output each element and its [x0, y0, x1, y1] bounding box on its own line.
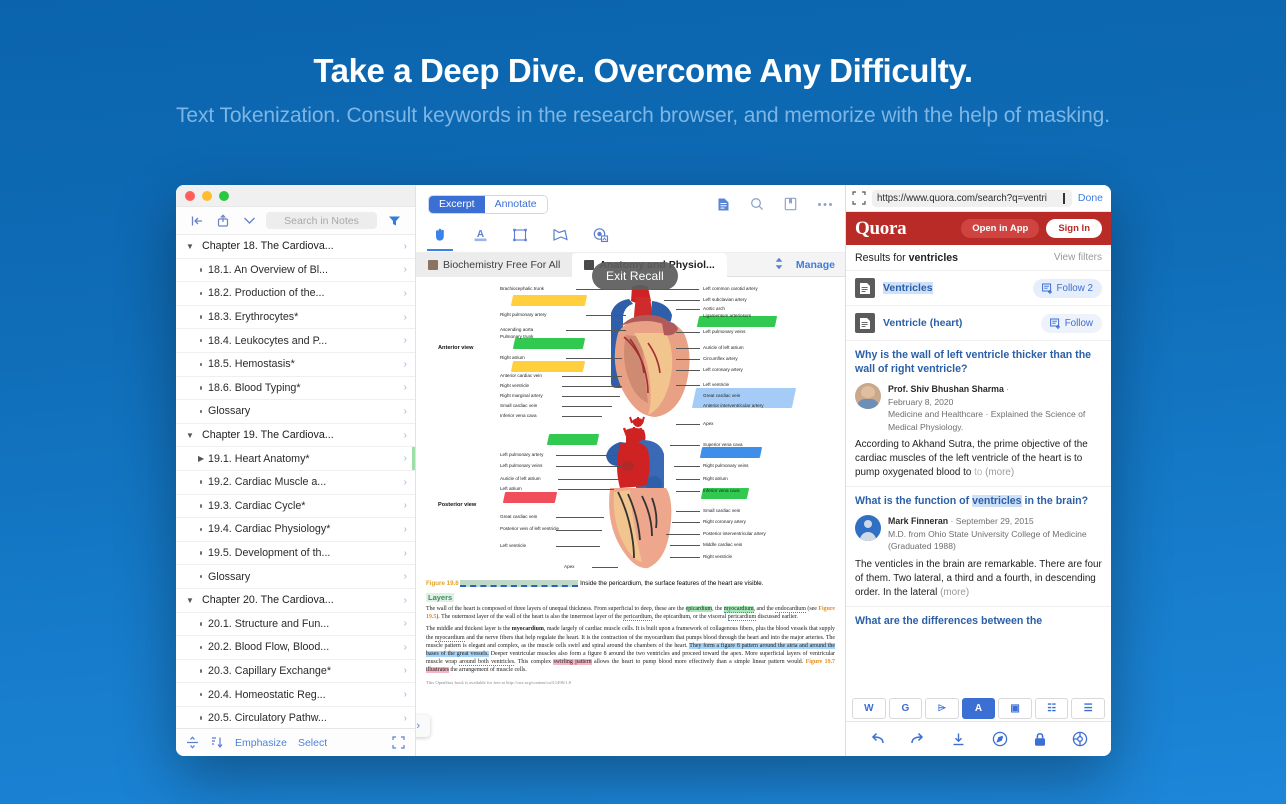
figure-number: Figure 19.6 [426, 580, 459, 587]
leader-line [676, 359, 700, 360]
tree-item-label: 20.1. Structure and Fun... [202, 618, 404, 630]
search-engine-bar[interactable]: WG⌲A▣☷☰ [852, 698, 1105, 719]
label-inferior-vena-cava: Inferior vena cava [703, 488, 740, 493]
bullet-icon [186, 363, 202, 367]
tree-item-10[interactable]: 19.2. Cardiac Muscle a...› [176, 471, 415, 495]
leader-line [672, 522, 700, 523]
open-in-app-button[interactable]: Open in App [961, 219, 1039, 238]
topic-icon [855, 313, 875, 333]
fullscreen-icon[interactable] [392, 736, 405, 749]
figure-posterior-view: Posterior view [426, 426, 835, 578]
answer-card-1[interactable]: Why is the wall of left ventricle thicke… [846, 341, 1111, 487]
leader-line [670, 445, 700, 446]
image-capture-tool-icon[interactable] [590, 225, 610, 251]
answer-body: The venticles in the brain are remarkabl… [855, 558, 1102, 600]
chevron-right-icon[interactable]: › [404, 618, 407, 629]
sidebar-footer: Emphasize Select [176, 728, 415, 756]
chevron-right-icon[interactable]: › [404, 406, 407, 417]
paragraph-layers-2[interactable]: The middle and thickest layer is the myo… [426, 625, 835, 674]
notes-sidebar-panel: Search in Notes ▼Chapter 18. The Cardiov… [176, 185, 416, 756]
tree-item-label: 18.6. Blood Typing* [202, 382, 404, 394]
label-right-atrium: Right atrium [703, 476, 728, 481]
chapter-tree[interactable]: ▼Chapter 18. The Cardiova...›18.1. An Ov… [176, 235, 415, 728]
leader-line [556, 455, 622, 456]
follow-icon [1042, 283, 1053, 294]
leader-line [676, 511, 700, 512]
masked-text-block[interactable] [460, 580, 578, 587]
chevron-right-icon[interactable]: › [404, 477, 407, 488]
leader-line [562, 376, 622, 377]
leader-line [556, 530, 602, 531]
answer-card-2[interactable]: What is the function of ventricles in th… [846, 487, 1111, 607]
hero-title: Take a Deep Dive. Overcome Any Difficult… [0, 52, 1286, 90]
label-pulmonary-trunk: Pulmonary trunk [500, 334, 533, 339]
tree-item-14[interactable]: Glossary› [176, 565, 415, 589]
label-right-pulmonary-artery: Right pulmonary artery [500, 312, 546, 317]
label-anterior-cardiac-vein: Anterior cardiac vein [500, 373, 542, 378]
follow-button[interactable]: Follow [1041, 314, 1102, 333]
leader-line [676, 309, 700, 310]
more-link[interactable]: (more) [985, 467, 1014, 478]
document-top-toolbar: Excerpt Annotate [416, 185, 845, 223]
chevron-down-icon[interactable] [236, 210, 262, 232]
leader-line [676, 332, 700, 333]
research-browser-panel: https://www.quora.com/search?q=ventri Do… [846, 185, 1111, 756]
label-great-cardiac-vein: Great cardiac vein [703, 393, 740, 398]
section-heading-layers: Layers [426, 593, 454, 602]
chevron-right-icon[interactable]: › [404, 642, 407, 653]
disclosure-triangle-down-icon[interactable]: ▼ [186, 596, 202, 605]
leader-line [556, 517, 604, 518]
chevron-right-icon[interactable]: › [404, 571, 407, 582]
leader-line [676, 370, 700, 371]
bullet-icon [186, 480, 202, 484]
chevron-right-icon[interactable]: › [404, 288, 407, 299]
leader-line [676, 385, 700, 386]
expand-browser-icon[interactable] [852, 191, 866, 205]
chevron-right-icon[interactable]: › [404, 665, 407, 676]
split-view-icon[interactable] [186, 736, 199, 749]
pointer-hand-tool-icon[interactable] [430, 225, 450, 251]
tree-item-label: 19.2. Cardiac Muscle a... [202, 476, 404, 488]
chevron-right-icon[interactable]: › [404, 359, 407, 370]
search-input[interactable]: Search in Notes [266, 212, 377, 229]
topic-name[interactable]: Ventricles [883, 282, 933, 294]
tree-item-1[interactable]: 18.1. An Overview of Bl...› [176, 259, 415, 283]
bullet-icon [186, 410, 202, 414]
answer-card-3[interactable]: What are the differences between the [846, 607, 1111, 629]
leader-line [556, 466, 622, 467]
author-credential: M.D. from Ohio State University College … [888, 529, 1087, 551]
label-left-ventricle: Left ventricle [703, 382, 729, 387]
chevron-right-icon[interactable]: › [404, 689, 407, 700]
answer-body: According to Akhand Sutra, the prime obj… [855, 438, 1102, 480]
pdf-search-icon[interactable]: ☰ [1071, 698, 1105, 719]
lasso-polygon-tool-icon[interactable] [550, 225, 570, 251]
sidebar-toolbar: Search in Notes [176, 207, 415, 235]
chevron-right-icon[interactable]: › [404, 335, 407, 346]
tree-item-11[interactable]: 19.3. Cardiac Cycle*› [176, 495, 415, 519]
document-icon[interactable] [717, 197, 730, 212]
leader-line [666, 534, 700, 535]
label-middle-cardiac-vein: Middle cardiac vein [703, 542, 742, 547]
label-aortic-arch: Aortic arch [703, 306, 725, 311]
tree-item-2[interactable]: 18.2. Production of the...› [176, 282, 415, 306]
label-left-atrium: Left atrium [500, 486, 522, 491]
download-icon[interactable] [951, 732, 966, 747]
document-actions [717, 197, 833, 212]
tree-item-4[interactable]: 18.4. Leukocytes and P...› [176, 329, 415, 353]
follow-label: Follow [1065, 318, 1093, 329]
tree-item-label: Chapter 19. The Cardiova... [202, 429, 404, 441]
back-icon[interactable] [869, 732, 885, 746]
more-options-icon[interactable] [817, 202, 833, 207]
label-left-ventricle: Left ventricle [500, 543, 526, 548]
heart-anterior-illustration [574, 283, 704, 429]
topic-icon [855, 278, 875, 298]
label-posterior-interventricular-artery: Posterior interventricular artery [703, 531, 766, 536]
label-apex: Apex [564, 564, 574, 569]
quora-header-actions: Open in App Sign In [961, 219, 1102, 238]
tree-item-label: Chapter 20. The Cardiova... [202, 594, 404, 606]
bullet-icon [186, 575, 202, 579]
answer-author-block: Prof. Shiv Bhushan Sharma · February 8, … [855, 383, 1102, 433]
leader-line [558, 489, 614, 490]
figure-caption-text: Inside the pericardium, the surface feat… [580, 580, 763, 587]
bullet-icon [186, 315, 202, 319]
next-page-icon[interactable]: › [416, 720, 420, 732]
label-inferior-vena-cava: Inferior vena cava [500, 413, 537, 418]
tree-item-17[interactable]: 20.2. Blood Flow, Blood...› [176, 636, 415, 660]
minimize-window-button[interactable] [202, 191, 212, 201]
label-left-common-carotid-artery: Left common carotid artery [703, 286, 758, 291]
tree-item-13[interactable]: 19.5. Development of th...› [176, 542, 415, 566]
avatar[interactable] [855, 383, 881, 409]
tree-item-label: 18.5. Hemostasis* [202, 358, 404, 370]
tree-item-label: 19.1. Heart Anatomy* [202, 453, 404, 465]
bullet-icon [186, 504, 202, 508]
leader-line [676, 348, 700, 349]
leader-line [562, 416, 602, 417]
label-right-ventricle: Right ventricle [500, 383, 529, 388]
label-ascending-aorta: Ascending aorta [500, 327, 533, 332]
leader-line [556, 546, 600, 547]
label-great-cardiac-vein: Great cardiac vein [500, 514, 537, 519]
author-name[interactable]: Mark Finneran [888, 516, 948, 526]
text-highlight-tool-icon[interactable]: A [470, 225, 490, 251]
label-ligamentum-arteriosum: Ligamentum arteriosum [703, 313, 751, 318]
bullet-icon [186, 669, 202, 673]
leader-line [676, 491, 700, 492]
select-button[interactable]: Select [298, 737, 327, 749]
answer-date: September 29, 2015 [956, 516, 1034, 526]
tree-item-20[interactable]: 20.5. Circulatory Pathw...› [176, 707, 415, 728]
tree-item-label: 19.5. Development of th... [202, 547, 404, 559]
tree-item-label: 18.1. An Overview of Bl... [202, 264, 404, 276]
label-anterior-interventricular-artery: Anterior interventricular artery [703, 403, 764, 408]
label-left-pulmonary-veins: Left pulmonary veins [500, 463, 542, 468]
bullet-icon [186, 268, 202, 272]
avatar[interactable] [855, 515, 881, 541]
tree-item-label: 20.2. Blood Flow, Blood... [202, 641, 404, 653]
label-right-coronary-artery: Right coronary artery [703, 519, 746, 524]
chevron-right-icon[interactable]: › [404, 595, 407, 606]
filter-icon[interactable] [381, 210, 407, 232]
share-icon[interactable] [210, 210, 236, 232]
tree-item-6[interactable]: 18.6. Blood Typing*› [176, 377, 415, 401]
leader-line [562, 386, 622, 387]
window-titlebar [176, 185, 415, 207]
follow-icon [1050, 318, 1061, 329]
leader-line [670, 545, 700, 546]
compass-icon[interactable] [992, 731, 1008, 747]
heart-posterior-illustration [576, 426, 706, 576]
browser-bottom-toolbar [846, 721, 1111, 756]
tree-item-8[interactable]: ▼Chapter 19. The Cardiova...› [176, 424, 415, 448]
bullet-icon [186, 292, 202, 296]
document-content[interactable]: Anterior view [416, 277, 845, 756]
highlight-blue-2 [700, 447, 762, 458]
annotation-tool-row: A [416, 223, 845, 253]
leader-line [586, 315, 626, 316]
figure-anterior-view: Anterior view [426, 281, 835, 426]
leader-line [670, 557, 700, 558]
collapse-sidebar-icon[interactable] [184, 210, 210, 232]
chevron-right-icon[interactable]: › [404, 548, 407, 559]
bookmark-icon[interactable] [784, 197, 797, 211]
tree-item-19[interactable]: 20.4. Homeostatic Reg...› [176, 683, 415, 707]
rectangle-select-tool-icon[interactable] [510, 225, 530, 251]
page-navigation-pill[interactable]: ‹ · › [416, 715, 430, 737]
topic-row-ventricle-heart[interactable]: Ventricle (heart) Follow [846, 306, 1111, 341]
sign-in-button[interactable]: Sign In [1046, 219, 1102, 238]
answer-question-link[interactable]: What is the function of ventricles in th… [855, 495, 1102, 509]
results-label: Results for ventricles [855, 252, 958, 264]
bullet-icon [186, 528, 202, 532]
disclosure-triangle-down-icon[interactable]: ▼ [186, 431, 202, 440]
leader-line [562, 396, 620, 397]
label-brachiocephalic-trunk: Brachiocephalic trunk [500, 286, 544, 291]
maximize-window-button[interactable] [219, 191, 229, 201]
topic-name[interactable]: Ventricle (heart) [883, 317, 962, 329]
bullet-icon [186, 339, 202, 343]
tree-item-label: 19.4. Cardiac Physiology* [202, 523, 404, 535]
label-superior-vena-cava: Superior vena cava [703, 442, 743, 447]
image-search-icon[interactable]: ▣ [998, 698, 1032, 719]
tree-item-16[interactable]: 20.1. Structure and Fun...› [176, 613, 415, 637]
label-auricle-of-left-atrium: Auricle of left atrium [500, 476, 541, 481]
leader-line [566, 358, 622, 359]
done-button[interactable]: Done [1078, 192, 1105, 204]
label-left-pulmonary-veins: Left pulmonary veins [703, 329, 745, 334]
tree-item-label: 20.3. Capillary Exchange* [202, 665, 404, 677]
mode-segmented-control[interactable]: Excerpt Annotate [428, 195, 548, 214]
tree-item-12[interactable]: 19.4. Cardiac Physiology*› [176, 518, 415, 542]
text-cursor [1063, 193, 1065, 204]
url-text: https://www.quora.com/search?q=ventri [877, 193, 1047, 204]
chevron-right-icon[interactable]: › [404, 382, 407, 393]
chevron-right-icon[interactable]: › [404, 430, 407, 441]
chevron-right-icon[interactable]: › [404, 713, 407, 724]
tree-item-label: 18.4. Leukocytes and P... [202, 335, 404, 347]
emphasize-button[interactable]: Emphasize [235, 737, 287, 749]
follow-label: Follow 2 [1057, 283, 1093, 294]
paragraph-layers-1[interactable]: The wall of the heart is composed of thr… [426, 605, 835, 621]
tree-item-label: Glossary [202, 571, 404, 583]
tree-item-label: 20.5. Circulatory Pathw... [202, 712, 404, 724]
leader-line [676, 424, 700, 425]
label-right-atrium: Right atrium [500, 355, 525, 360]
label-right-marginal-artery: Right marginal artery [500, 393, 543, 398]
chevron-right-icon[interactable]: › [404, 524, 407, 535]
quora-logo[interactable]: Quora [855, 218, 906, 240]
label-left-subclavian-artery: Left subclavian artery [703, 297, 747, 302]
tree-item-15[interactable]: ▼Chapter 20. The Cardiova...› [176, 589, 415, 613]
tree-item-7[interactable]: Glossary› [176, 400, 415, 424]
translate-icon[interactable]: A [962, 698, 996, 719]
posterior-view-label: Posterior view [438, 502, 476, 508]
lock-icon[interactable] [1033, 732, 1047, 747]
leader-line [592, 567, 618, 568]
label-small-cardiac-vein: Small cardiac vein [500, 403, 537, 408]
bullet-icon [186, 693, 202, 697]
tree-item-3[interactable]: 18.3. Erythrocytes*› [176, 306, 415, 330]
author-credential: Medicine and Healthcare · Explained the … [888, 409, 1085, 431]
answer-question-link[interactable]: Why is the wall of left ventricle thicke… [855, 349, 1102, 377]
tree-item-9[interactable]: ▶19.1. Heart Anatomy*› [176, 447, 415, 471]
follow-button[interactable]: Follow 2 [1033, 279, 1102, 298]
leader-line [674, 466, 700, 467]
search-icon[interactable] [750, 197, 764, 211]
tree-item-label: 18.3. Erythrocytes* [202, 311, 404, 323]
chevron-right-icon[interactable]: › [404, 500, 407, 511]
label-small-cardiac-vein: Small cardiac vein [703, 508, 740, 513]
tab-annotate[interactable]: Annotate [485, 196, 547, 213]
anterior-view-label: Anterior view [438, 345, 473, 351]
google-icon[interactable]: G [889, 698, 923, 719]
chevron-right-icon[interactable]: › [404, 241, 407, 252]
tree-item-label: Glossary [202, 405, 404, 417]
tab-biochemistry[interactable]: Biochemistry Free For All [416, 253, 572, 277]
tree-item-label: Chapter 18. The Cardiova... [202, 240, 404, 252]
url-input[interactable]: https://www.quora.com/search?q=ventri [872, 190, 1072, 207]
bullet-icon [186, 716, 202, 720]
author-meta: Mark Finneran · September 29, 2015 M.D. … [888, 515, 1102, 553]
leader-line [676, 479, 700, 480]
document-footer-note: This OpenStax book is available for free… [426, 680, 835, 685]
leader-line [566, 330, 626, 331]
bullet-icon [186, 551, 202, 555]
search-results-header: Results for ventricles View filters [846, 245, 1111, 271]
dictionary-icon[interactable]: ☷ [1035, 698, 1069, 719]
author-name[interactable]: Prof. Shiv Bhushan Sharma [888, 384, 1004, 394]
label-right-ventricle: Right ventricle [703, 554, 732, 559]
bullet-icon [186, 386, 202, 390]
bullet-icon [186, 646, 202, 650]
answer-date: February 8, 2020 [888, 397, 953, 407]
answer-question-link[interactable]: What are the differences between the [855, 615, 1102, 629]
tree-item-label: 20.4. Homeostatic Reg... [202, 689, 404, 701]
chevron-right-icon[interactable]: › [404, 264, 407, 275]
browser-url-bar: https://www.quora.com/search?q=ventri Do… [846, 185, 1111, 212]
tree-item-label: 19.3. Cardiac Cycle* [202, 500, 404, 512]
highlight-red-1 [503, 492, 557, 503]
label-left-pulmonary-artery: Left pulmonary artery [500, 452, 543, 457]
tree-item-18[interactable]: 20.3. Capillary Exchange*› [176, 660, 415, 684]
bullet-icon [186, 622, 202, 626]
label-right-pulmonary-veins: Right pulmonary veins [703, 463, 748, 468]
search-placeholder: Search in Notes [284, 215, 359, 227]
chevron-right-icon[interactable]: › [404, 312, 407, 323]
exit-recall-tooltip[interactable]: Exit Recall [592, 262, 678, 290]
tab-excerpt[interactable]: Excerpt [429, 196, 485, 213]
chevron-right-icon[interactable]: › [404, 453, 407, 464]
results-query: ventricles [909, 252, 958, 264]
more-link[interactable]: (more) [940, 587, 969, 598]
settings-icon[interactable] [1072, 731, 1088, 747]
tab-favicon [584, 260, 594, 270]
figure-caption: Figure 19.6 Inside the pericardium, the … [426, 580, 835, 587]
svg-text:A: A [476, 229, 483, 240]
answer-author-block: Mark Finneran · September 29, 2015 M.D. … [855, 515, 1102, 553]
close-window-button[interactable] [185, 191, 195, 201]
tree-item-5[interactable]: 18.5. Hemostasis*› [176, 353, 415, 377]
leader-line [558, 479, 620, 480]
tree-item-label: 18.2. Production of the... [202, 287, 404, 299]
hero-subtitle: Text Tokenization. Consult keywords in t… [0, 104, 1286, 128]
view-filters-link[interactable]: View filters [1054, 252, 1102, 263]
leader-line [664, 300, 700, 301]
disclosure-triangle-right-icon[interactable]: ▶ [186, 454, 202, 463]
tree-item-0[interactable]: ▼Chapter 18. The Cardiova...› [176, 235, 415, 259]
sort-icon[interactable] [210, 736, 224, 749]
forward-icon[interactable] [910, 732, 926, 746]
tab-row-actions: Manage [774, 257, 845, 273]
scholar-icon[interactable]: ⌲ [925, 698, 959, 719]
wikipedia-icon[interactable]: W [852, 698, 886, 719]
manage-button[interactable]: Manage [796, 259, 835, 271]
quora-header: Quora Open in App Sign In [846, 212, 1111, 245]
label-auricle-of-left-atrium: Auricle of left atrium [703, 345, 744, 350]
author-meta: Prof. Shiv Bhushan Sharma · February 8, … [888, 383, 1102, 433]
label-circumflex-artery: Circumflex artery [703, 356, 738, 361]
topic-row-ventricles[interactable]: Ventricles Follow 2 [846, 271, 1111, 306]
tab-favicon [428, 260, 438, 270]
hero-banner: Take a Deep Dive. Overcome Any Difficult… [0, 0, 1286, 128]
tab-label: Biochemistry Free For All [443, 259, 560, 271]
label-posterior-vein-of-left-ventricle: Posterior vein of left ventricle [500, 526, 559, 531]
label-left-coronary-artery: Left coronary artery [703, 367, 743, 372]
tab-sort-icon[interactable] [774, 257, 784, 273]
disclosure-triangle-down-icon[interactable]: ▼ [186, 242, 202, 251]
leader-line [562, 406, 612, 407]
